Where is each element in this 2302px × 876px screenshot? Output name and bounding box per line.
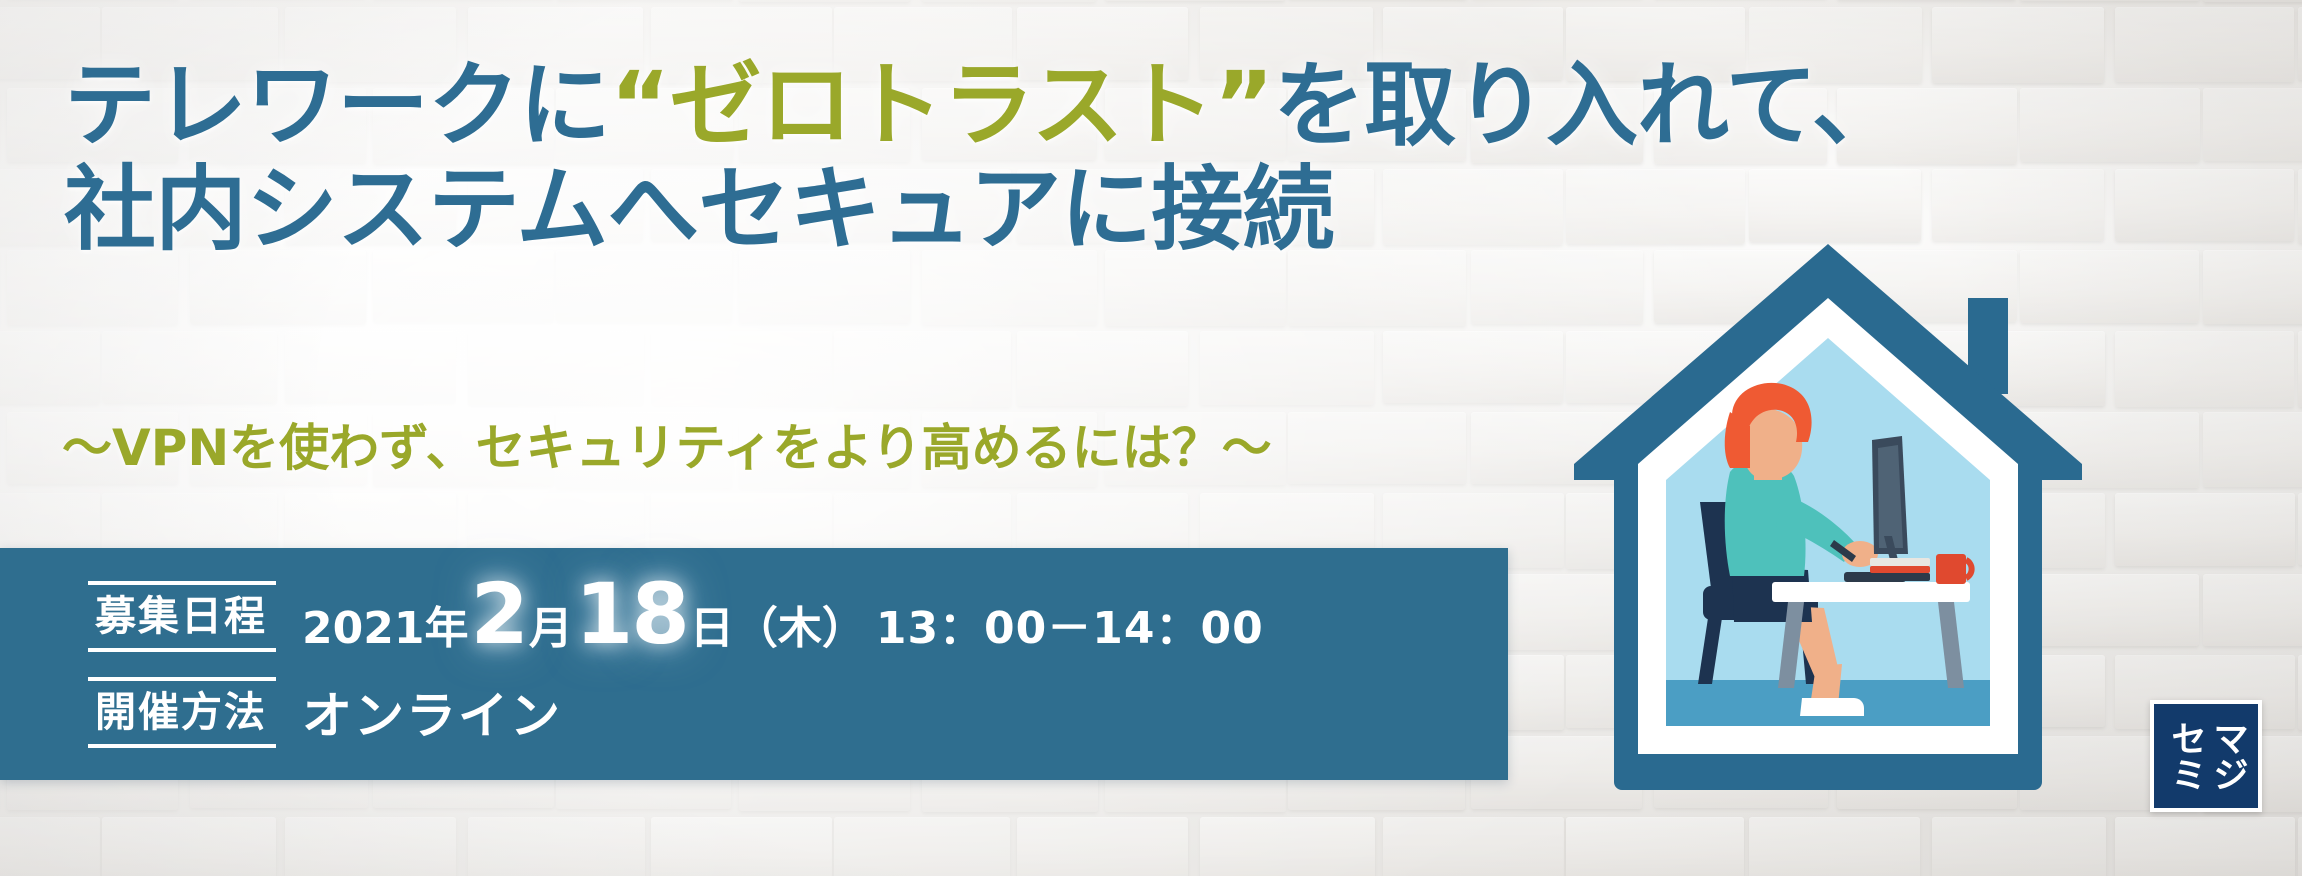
brick — [2115, 493, 2295, 566]
brick — [651, 331, 832, 406]
info-row-date: 募集日程 2021年2月18日（木）13：00－14：00 — [88, 568, 1264, 664]
brick — [2298, 655, 2302, 730]
brick — [651, 817, 832, 876]
brick — [2203, 412, 2302, 487]
info-label-date: 募集日程 — [88, 581, 276, 652]
brick — [468, 331, 644, 405]
brick — [2115, 7, 2294, 82]
date-time-range: 13：00－14：00 — [876, 592, 1264, 656]
brick — [2298, 331, 2302, 407]
brick — [834, 331, 1011, 407]
headline-line-2: 社内システムへセキュアに接続 — [64, 158, 1624, 262]
brick — [2298, 493, 2302, 565]
headline-text-after-highlight: を取り入れて、 — [1273, 52, 1903, 159]
brick — [739, 0, 910, 2]
brick — [102, 817, 276, 876]
brick — [0, 331, 100, 404]
brick — [2115, 817, 2295, 876]
logo-text: マジセミ — [2164, 712, 2248, 800]
brick — [1105, 0, 1285, 1]
webinar-banner: テレワークに“ゼロトラスト”を取り入れて、 社内システムへセキュアに接続 〜VP… — [0, 0, 2302, 876]
date-weekday: （木） — [734, 592, 866, 656]
brick — [2020, 0, 2200, 1]
brick — [2298, 169, 2302, 243]
brick — [2115, 169, 2294, 241]
illustration-svg — [1572, 236, 2084, 804]
brick — [1932, 817, 2106, 876]
brick — [834, 817, 1010, 876]
brick — [1017, 817, 1188, 876]
brick — [1749, 169, 1921, 242]
date-day-unit: 日 — [690, 592, 734, 656]
date-day-number: 18 — [575, 577, 688, 653]
headline-highlight-zero-trust: “ゼロトラスト” — [610, 52, 1273, 159]
brick — [2020, 88, 2200, 162]
brick — [2203, 574, 2302, 646]
headline-block: テレワークに“ゼロトラスト”を取り入れて、 社内システムへセキュアに接続 — [64, 54, 1624, 262]
brick — [1932, 169, 2104, 241]
brick — [1566, 817, 1744, 876]
date-year: 2021年 — [302, 592, 468, 656]
subheadline: 〜VPNを使わず、セキュリティをより高めるには？〜 — [62, 418, 1272, 478]
brick — [285, 817, 456, 876]
brick — [0, 817, 100, 876]
brick — [2298, 7, 2302, 80]
brick — [1288, 412, 1466, 484]
brick — [2203, 0, 2302, 2]
brick — [1749, 817, 1920, 876]
brick — [468, 817, 645, 876]
brick — [285, 331, 456, 403]
brick — [1383, 331, 1563, 403]
brick — [1200, 817, 1375, 876]
info-label-method: 開催方法 — [88, 677, 276, 748]
brick — [2115, 331, 2294, 407]
brick — [2203, 250, 2302, 324]
event-info-panel: 募集日程 2021年2月18日（木）13：00－14：00 開催方法 オンライン — [0, 548, 1508, 780]
majiseminar-logo[interactable]: マジセミ — [2150, 700, 2262, 812]
sneaker — [1800, 698, 1864, 716]
date-month-number: 2 — [470, 577, 526, 653]
info-value-date: 2021年2月18日（木）13：00－14：00 — [302, 577, 1264, 656]
headline-line-1: テレワークに“ゼロトラスト”を取り入れて、 — [64, 54, 1624, 158]
home-office-illustration — [1572, 236, 2084, 804]
date-month-unit: 月 — [529, 592, 573, 656]
brick — [2298, 817, 2302, 876]
brick — [1017, 331, 1188, 406]
info-row-method: 開催方法 オンライン — [88, 666, 562, 758]
info-value-method: オンライン — [302, 676, 562, 748]
brick — [922, 0, 1096, 2]
brick — [1200, 331, 1374, 405]
brick — [102, 331, 277, 403]
books-stack-icon — [1870, 558, 1930, 581]
brick — [1383, 817, 1564, 876]
brick — [1932, 7, 2104, 83]
brick — [2203, 88, 2302, 161]
headline-text-before-highlight: テレワークに — [64, 52, 610, 159]
